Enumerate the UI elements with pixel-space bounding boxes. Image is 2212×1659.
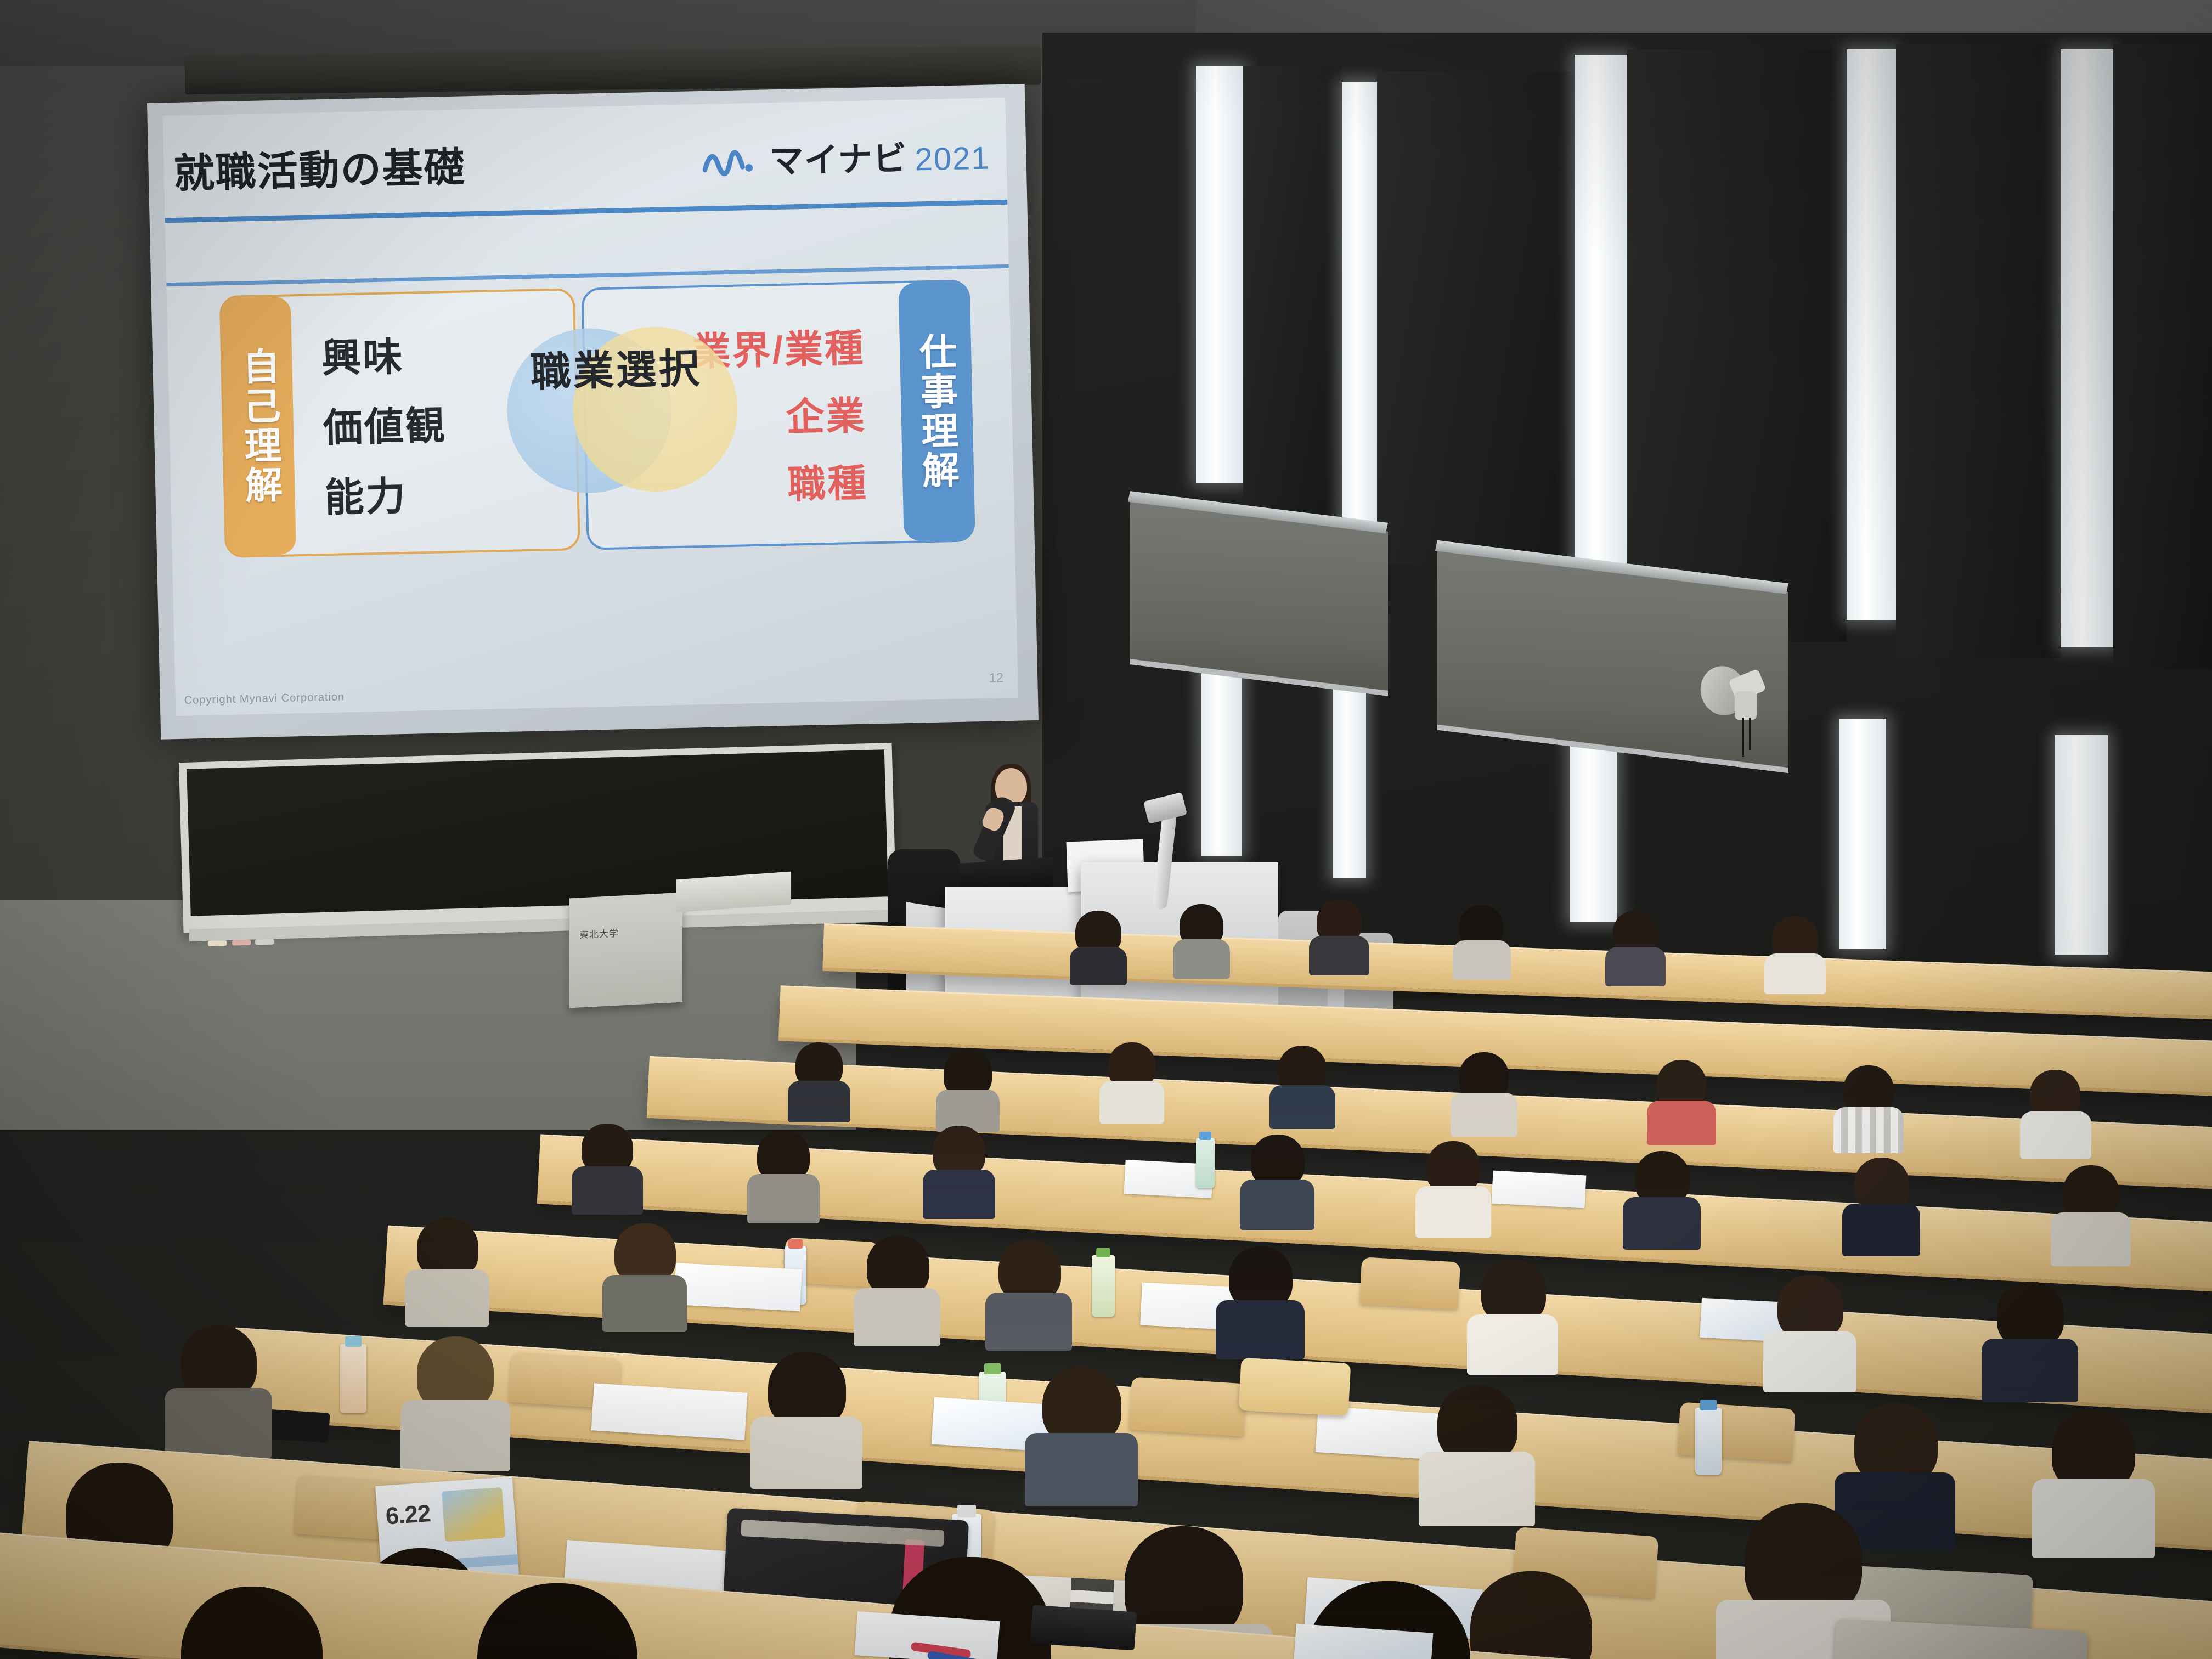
attendee-torso [1763,1331,1857,1392]
attendee [1657,1060,1717,1131]
attendee [757,1130,823,1212]
attendee-torso [1842,1204,1920,1256]
water-bottle [340,1344,366,1413]
water-bottle [1196,1138,1215,1188]
smartphone [1030,1605,1137,1650]
attendee-torso [1070,947,1127,985]
attendee [1108,1042,1169,1114]
handout [1492,1171,1587,1209]
attendee-torso [985,1293,1072,1351]
brand-name: マイナビ [769,144,907,177]
projection-screen: 就職活動の基礎 マイナビ 2021 自己理解 興味 [147,84,1039,740]
seating-area: 6.22 [0,933,2212,1659]
attendee-torso [1309,936,1369,975]
item-jobtype: 職種 [787,452,868,509]
attendee [1854,1403,1953,1519]
attendee [933,1126,998,1208]
seat-back [1128,1377,1247,1437]
attendee [1613,911,1668,977]
attendee-torso [1269,1085,1335,1129]
wall-column [2113,44,2212,669]
wall-column [1627,49,1847,642]
attendee-head [1437,1385,1517,1463]
attendee-head [1481,1260,1546,1323]
handout [674,1263,802,1311]
attendee [1997,1282,2074,1375]
presenter-hand [980,805,1006,833]
lecture-hall-photo: 就職活動の基礎 マイナビ 2021 自己理解 興味 [0,0,2212,1659]
attendee [867,1235,944,1329]
attendee [1042,1367,1136,1477]
wall-column [1896,44,2061,658]
attendee-torso [1467,1314,1558,1375]
attendee [1251,1135,1317,1217]
work-understanding-tab: 仕事理解 [898,281,973,541]
attendee-torso [1764,953,1826,994]
mynavi-wave-icon [702,149,762,178]
attendee [1481,1260,1558,1353]
attendee [2052,1410,2151,1525]
attendee-head [1042,1367,1121,1444]
mynavi-brand: マイナビ 2021 [702,142,990,179]
attendee [944,1050,1004,1121]
attendee-torso [1451,1093,1517,1137]
attendee [1278,1046,1339,1117]
water-bottle [1092,1255,1115,1317]
attendee [2063,1165,2129,1248]
self-understanding-tab: 自己理解 [222,296,296,556]
attendee-head [1229,1246,1293,1309]
attendee [1459,905,1514,971]
attendee-torso [747,1174,820,1223]
attendee [1843,1065,1904,1137]
attendee-torso [602,1275,687,1332]
attendee-torso [1605,947,1666,986]
pencil-case [1239,1358,1351,1416]
attendee-torso [165,1388,272,1458]
attendee [181,1587,346,1659]
attendee-torso [1099,1081,1164,1124]
slide-copyright: Copyright Mynavi Corporation [184,691,345,707]
item-company: 企業 [786,385,867,442]
attendee [795,1042,856,1114]
window-slit [2055,735,2108,955]
presentation-slide: 就職活動の基礎 マイナビ 2021 自己理解 興味 [163,98,1019,716]
attendee [1229,1246,1306,1340]
screen-surface: 就職活動の基礎 マイナビ 2021 自己理解 興味 [147,84,1039,740]
attendee-head [477,1583,637,1659]
attendee-torso [1623,1197,1701,1250]
attendee [1317,900,1372,966]
attendee-torso [854,1288,940,1346]
attendee [614,1223,691,1317]
item-interest: 興味 [321,324,404,383]
wall-column [1243,66,1342,516]
attendee-torso [1419,1452,1535,1526]
attendee [768,1352,861,1462]
attendee-torso [400,1400,510,1471]
attendee-torso [1025,1433,1138,1506]
item-values: 価値観 [323,393,447,453]
seat-back [1359,1257,1460,1309]
attendee [1180,904,1234,970]
attendee [1778,1275,1854,1368]
attendee-head [1997,1282,2064,1347]
attendee-head [1778,1275,1843,1340]
flyer-date: 6.22 [385,1500,431,1531]
slide-page-number: 12 [989,670,1003,686]
attendee [998,1240,1075,1333]
career-choice-diagram: 自己理解 興味 価値観 能力 仕事理解 業界/業種 企業 職種 [219,280,971,554]
attendee-torso [405,1269,489,1327]
wall-column [1377,71,1575,565]
attendee [582,1124,647,1206]
attendee [1459,1052,1520,1124]
title-rule [165,200,1008,223]
attendee-torso [2051,1212,2131,1266]
attendee-head [181,1587,323,1659]
attendee [181,1325,274,1435]
item-ability: 能力 [324,463,407,522]
attendee [1437,1385,1531,1494]
attendee [417,1218,494,1311]
window-slit [1839,719,1886,949]
slide-title: 就職活動の基礎 [173,134,466,200]
attendee [1772,916,1827,982]
attendee-torso [1216,1300,1305,1359]
attendee-torso [1453,940,1511,980]
attendee [1426,1141,1492,1223]
brand-year: 2021 [915,144,990,174]
attendee [2030,1070,2090,1141]
attendee-torso [1982,1339,2078,1402]
attendee-head [2063,1165,2119,1220]
attendee-torso [1833,1107,1904,1153]
career-selection-label: 職業選択 [517,347,715,395]
balcony-box [1130,500,1388,696]
attendee-torso [1415,1186,1491,1238]
window-slit [1342,82,1377,532]
attendee-torso [923,1170,995,1219]
handout [591,1383,748,1440]
water-bottle [1695,1408,1722,1475]
attendee-torso [1647,1101,1716,1145]
attendee [417,1336,510,1446]
attendee [1075,911,1130,977]
window-slit [2061,49,2113,647]
attendee-torso [1173,939,1230,979]
window-slit [1196,66,1243,483]
attendee-torso [572,1166,643,1215]
attendee [1635,1151,1701,1233]
attendee-torso [1240,1180,1314,1230]
attendee [477,1583,658,1659]
attendee-torso [2020,1111,2091,1159]
attendee [1854,1158,1920,1240]
attendee-torso [2032,1479,2155,1558]
wall-fan-icon [1701,658,1767,746]
attendee-torso [788,1081,850,1122]
window-slit [1847,49,1896,620]
self-understanding-items: 興味 価値観 能力 [320,306,449,539]
window-slit [1575,55,1627,592]
attendee-torso [751,1417,862,1489]
